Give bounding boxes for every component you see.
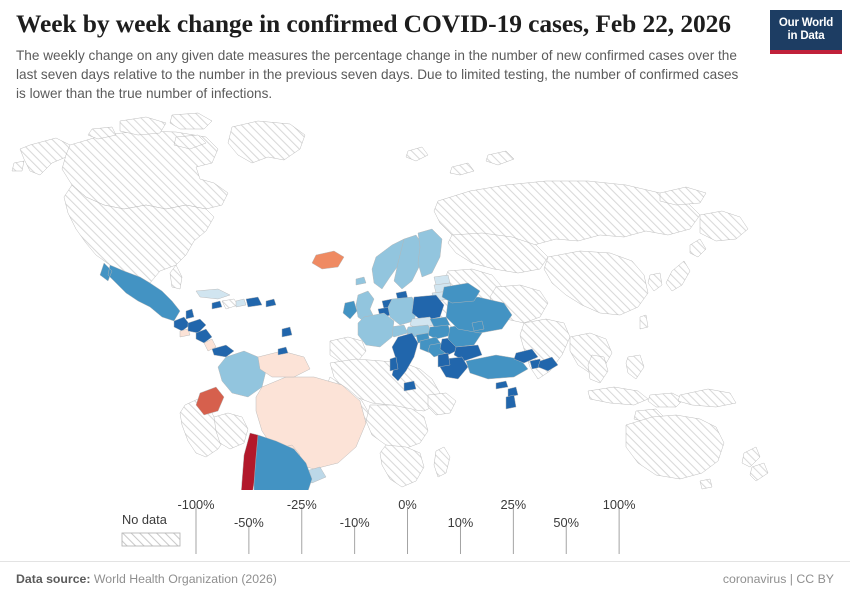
country-albania <box>438 353 450 367</box>
chart-footer: Data source: World Health Organization (… <box>0 561 850 601</box>
country-france <box>358 313 394 347</box>
legend-tick-label-3: -10% <box>340 515 370 530</box>
world-map-svg[interactable] <box>0 105 850 490</box>
legend-tick-label-0: -100% <box>178 497 215 512</box>
country-faroe-islands <box>356 277 366 285</box>
logo-line-1: Our World <box>779 17 833 30</box>
data-source-label: Data source: <box>16 572 91 586</box>
country-jamaica <box>212 301 222 309</box>
legend-no-data-swatch[interactable] <box>122 533 180 546</box>
owid-chart: Week by week change in confirmed COVID-1… <box>0 0 850 600</box>
country-sicily <box>404 381 416 391</box>
logo-accent-bar <box>770 50 842 54</box>
country-venezuela <box>258 351 310 377</box>
legend-tick-label-7: 50% <box>553 515 579 530</box>
country-ireland <box>343 301 357 319</box>
legend-tick-label-1: -50% <box>234 515 264 530</box>
country-moldova <box>472 321 484 331</box>
map-legend[interactable]: No data -100%-50%-25%-10%0%10%25%50%100% <box>0 496 850 554</box>
legend-tick-label-2: -25% <box>287 497 317 512</box>
country-israel <box>506 395 516 409</box>
country-cuba <box>196 289 230 299</box>
legend-tick-label-4: 0% <box>398 497 417 512</box>
legend-svg[interactable] <box>0 496 850 554</box>
data-source-value: World Health Organization (2026) <box>94 572 277 586</box>
legend-tick-label-5: 10% <box>448 515 474 530</box>
country-dominican-republic <box>246 297 262 307</box>
country-cyprus <box>496 381 508 389</box>
owid-logo[interactable]: Our World in Data <box>770 10 842 50</box>
chart-subtitle: The weekly change on any given date meas… <box>16 46 740 104</box>
country-belize <box>186 309 194 319</box>
page-title: Week by week change in confirmed COVID-1… <box>16 10 756 39</box>
chart-header: Week by week change in confirmed COVID-1… <box>16 10 756 103</box>
license-text[interactable]: coronavirus | CC BY <box>723 572 834 586</box>
country-barbados <box>282 327 292 337</box>
world-map[interactable] <box>0 105 850 490</box>
legend-tick-label-6: 25% <box>501 497 527 512</box>
country-puerto-rico <box>266 299 276 307</box>
data-source: Data source: World Health Organization (… <box>16 572 277 586</box>
country-finland <box>418 229 442 277</box>
data-countries <box>100 229 558 490</box>
country-iceland <box>312 251 344 269</box>
legend-tick-label-8: 100% <box>603 497 636 512</box>
logo-line-2: in Data <box>788 30 825 43</box>
country-haiti <box>236 299 246 307</box>
